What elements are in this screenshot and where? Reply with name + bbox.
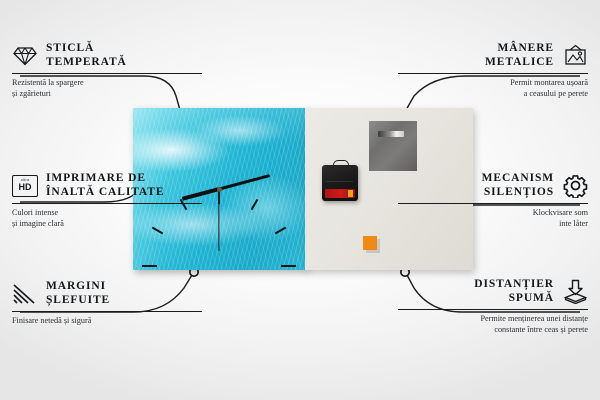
feature-title-line1: STICLĂ [46,42,94,54]
gear-icon [562,174,588,198]
feature-title-line1: IMPRIMARE DE [46,172,146,184]
feature-spacer-desc: Permite menținerea unei distanțe constan… [398,313,588,335]
feature-spacer-head: DISTANȚIER SPUMĂ [398,278,588,305]
picture-hanger-icon [562,44,588,68]
feature-divider [12,203,202,204]
feature-edges-head: MARGINI ȘLEFUITE [12,280,202,307]
feature-print-title: IMPRIMARE DE ÎNALTĂ CALITATE [46,172,164,199]
product-feature-infographic: STICLĂ TEMPERATĂ Rezistentă la spargere … [0,0,600,400]
diamond-icon [12,44,38,68]
quartz-mechanism [322,165,358,201]
feature-spacer: DISTANȚIER SPUMĂ Permite menținerea unei… [398,278,588,335]
feature-spacer-title: DISTANȚIER SPUMĂ [474,278,554,305]
feature-desc-line2: și imagine clară [12,219,64,228]
polished-edge-icon [12,282,38,306]
feature-divider [12,311,202,312]
clock-tick [251,199,259,210]
feature-desc-line2: a ceasului pe perete [524,89,588,98]
feature-desc-line1: Permit montarea ușoară [510,78,588,87]
clock-tick [275,227,286,235]
feature-title-line2: ȘLEFUITE [46,294,110,306]
feature-mechanism: MECANISM SILENȚIOS Klockvisare som inte … [398,172,588,229]
feature-print-desc: Culori intense și imagine clară [12,207,202,229]
feature-hooks-desc: Permit montarea ușoară a ceasului pe per… [398,77,588,99]
feature-print-head: ultra HD IMPRIMARE DE ÎNALTĂ CALITATE [12,172,202,199]
feature-title-line2: METALICE [485,56,554,68]
feature-divider [12,73,202,74]
feature-glass: STICLĂ TEMPERATĂ Rezistentă la spargere … [12,42,202,99]
feature-title-line2: ÎNALTĂ CALITATE [46,186,164,198]
feature-mechanism-title: MECANISM SILENȚIOS [482,172,554,199]
clock-minute-hand [219,174,270,190]
feature-edges-title: MARGINI ȘLEFUITE [46,280,110,307]
mechanism-hanging-loop [333,160,349,169]
feature-title-line1: MECANISM [482,172,554,184]
metal-hanger-plate [369,121,417,171]
feature-edges: MARGINI ȘLEFUITE Finisare netedă și sigu… [12,280,202,326]
feature-title-line2: SPUMĂ [509,292,554,304]
clock-tick [142,265,157,267]
hanger-slot [378,131,404,137]
mechanism-seam [326,181,353,182]
feature-glass-head: STICLĂ TEMPERATĂ [12,42,202,69]
feature-title-line1: MARGINI [46,280,106,292]
feature-hooks-head: MÂNERE METALICE [398,42,588,69]
feature-glass-desc: Rezistentă la spargere și zgârieturi [12,77,202,99]
feature-title-line1: DISTANȚIER [474,278,554,290]
feature-divider [398,203,588,204]
feature-desc-line2: și zgârieturi [12,89,51,98]
feature-mechanism-desc: Klockvisare som inte låter [398,207,588,229]
feature-desc-line1: Rezistentă la spargere [12,78,84,87]
feature-title-line1: MÂNERE [497,42,554,54]
clock-tick [281,265,296,267]
feature-divider [398,73,588,74]
feature-desc-line2: constante între ceas și perete [494,325,588,334]
clock-center-cap [217,187,222,192]
feature-hooks-title: MÂNERE METALICE [485,42,554,69]
feature-glass-title: STICLĂ TEMPERATĂ [46,42,127,69]
ultra-hd-icon-large-text: HD [19,183,32,192]
foam-spacer [363,236,377,250]
feature-desc-line2: inte låter [559,219,588,228]
feature-divider [398,309,588,310]
feature-edges-desc: Finisare netedă și sigură [12,315,202,326]
ultra-hd-icon: ultra HD [12,174,38,198]
feature-hooks: MÂNERE METALICE Permit montarea ușoară a… [398,42,588,99]
feature-title-line2: TEMPERATĂ [46,56,127,68]
battery [325,189,355,198]
feature-title-line2: SILENȚIOS [484,186,554,198]
feature-desc-line1: Klockvisare som [533,208,588,217]
feature-print: ultra HD IMPRIMARE DE ÎNALTĂ CALITATE Cu… [12,172,202,229]
feature-desc-line1: Finisare netedă și sigură [12,316,91,325]
feature-desc-line1: Culori intense [12,208,58,217]
feature-mechanism-head: MECANISM SILENȚIOS [398,172,588,199]
feature-desc-line1: Permite menținerea unei distanțe [480,314,588,323]
press-down-pad-icon [562,280,588,304]
